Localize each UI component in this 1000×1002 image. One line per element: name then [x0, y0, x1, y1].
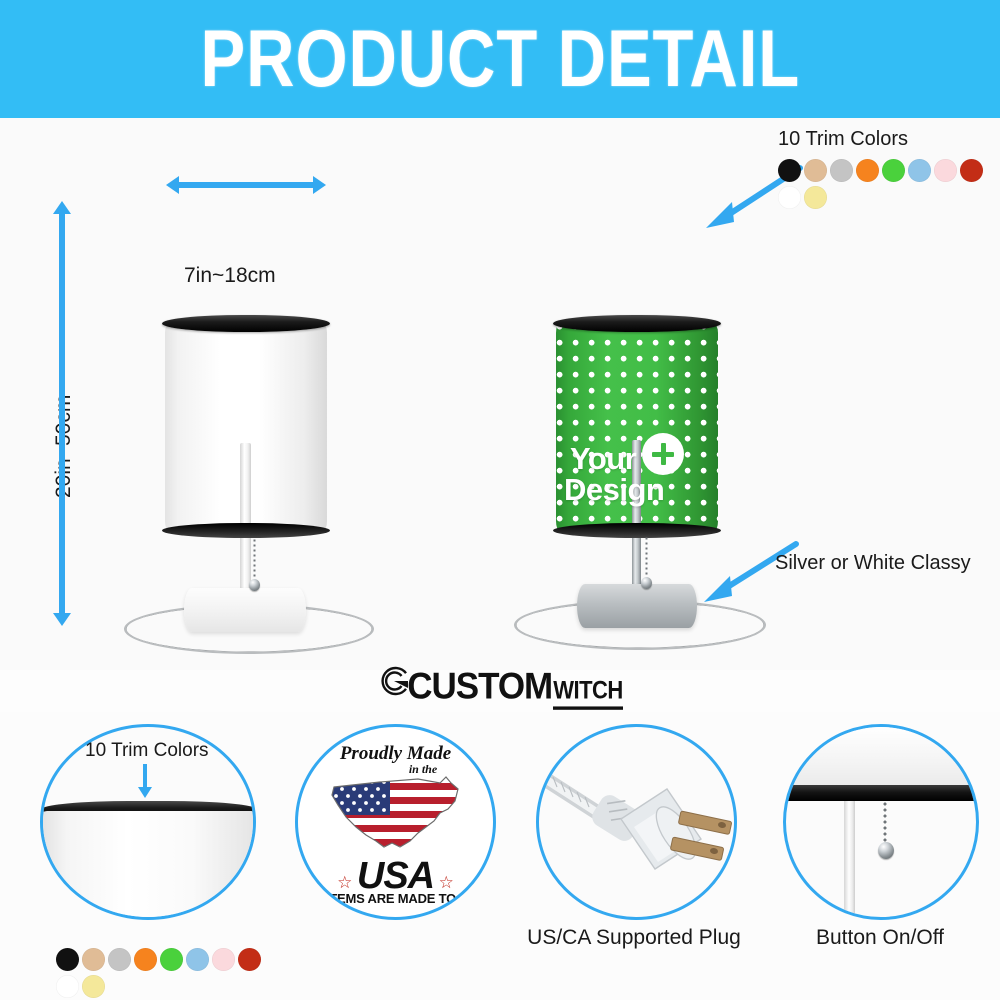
- trim-swatch-pink[interactable]: [934, 159, 957, 182]
- trim-swatch-green[interactable]: [882, 159, 905, 182]
- width-dimension-label: 7in~18cm: [184, 264, 276, 288]
- lamp-base-silver: [577, 584, 697, 628]
- design-placeholder-text: Your Design: [556, 444, 718, 505]
- trim-swatch-tan[interactable]: [804, 159, 827, 182]
- stem-closeup-switch: [844, 801, 855, 917]
- product-detail-infographic: PRODUCT DETAIL 7in~18cm 20in~50cm: [0, 0, 1000, 1000]
- brand-c-mark-icon: [377, 664, 411, 698]
- trim-swatch-yellow[interactable]: [82, 975, 105, 998]
- trim-swatch-green[interactable]: [160, 948, 183, 971]
- brand-name-sub: WITCH: [553, 676, 623, 710]
- feature-circle-switch: [783, 724, 979, 920]
- feature-trim-down-arrow: [143, 764, 147, 788]
- base-finish-label: Silver or White Classy: [775, 552, 971, 575]
- trim-swatch-black[interactable]: [56, 948, 79, 971]
- feature-circle-plug: [536, 724, 737, 920]
- trim-swatch-orange[interactable]: [134, 948, 157, 971]
- lamp-base-white: [184, 588, 306, 632]
- pull-chain-closeup[interactable]: [883, 801, 887, 847]
- brand-logo: CUSTOM WITCH: [0, 662, 1000, 710]
- trim-ring-top-white: [162, 315, 330, 332]
- header-banner: PRODUCT DETAIL: [0, 0, 1000, 118]
- height-dimension-arrow: [59, 213, 65, 614]
- power-plug-icon: [539, 727, 734, 917]
- trim-swatch-red[interactable]: [238, 948, 261, 971]
- trim-swatch-tan[interactable]: [82, 948, 105, 971]
- trim-colors-swatch-grid-top[interactable]: [778, 159, 1000, 213]
- trim-swatch-gray[interactable]: [108, 948, 131, 971]
- design-line-2: Design: [556, 475, 718, 505]
- trim-ring-top-green: [553, 315, 721, 332]
- pull-chain-ball-white[interactable]: [249, 579, 260, 591]
- trim-colors-swatch-grid-bottom[interactable]: [56, 948, 286, 1002]
- design-line-1: Your: [556, 444, 718, 474]
- shade-closeup-switch: [783, 727, 979, 789]
- trim-colors-swatch-grid-bottom-wrap: [56, 940, 286, 1002]
- trim-ring-bottom-green: [553, 523, 721, 538]
- feature-caption-switch: Button On/Off: [760, 926, 1000, 950]
- trim-swatch-black[interactable]: [778, 159, 801, 182]
- trim-swatch-orange[interactable]: [856, 159, 879, 182]
- usa-subtitle: ALL ITEMS ARE MADE TO ORDER!: [298, 891, 496, 906]
- trim-swatch-red[interactable]: [960, 159, 983, 182]
- trim-ring-closeup-switch: [783, 785, 979, 801]
- trim-swatch-gray[interactable]: [830, 159, 853, 182]
- feature-trim-inner-title: 10 Trim Colors: [85, 740, 209, 762]
- trim-colors-panel-top: 10 Trim Colors: [778, 128, 1000, 213]
- pull-chain-white[interactable]: [253, 538, 256, 582]
- trim-swatch-light-blue[interactable]: [908, 159, 931, 182]
- trim-ring-bottom-white: [162, 523, 330, 538]
- page-title: PRODUCT DETAIL: [200, 13, 800, 105]
- lamp-shade-green: Your Design: [556, 323, 718, 531]
- pull-chain-green[interactable]: [645, 536, 648, 580]
- trim-swatch-white[interactable]: [778, 186, 801, 209]
- add-design-plus-icon[interactable]: [642, 433, 684, 475]
- trim-swatch-light-blue[interactable]: [186, 948, 209, 971]
- shade-closeup-white: [41, 811, 256, 920]
- pull-chain-ball-green[interactable]: [641, 577, 652, 589]
- trim-swatch-white[interactable]: [56, 975, 79, 998]
- pull-chain-ball-closeup[interactable]: [878, 842, 894, 859]
- usa-map-flag-icon: [322, 769, 470, 861]
- feature-circle-usa: Proudly Made in the: [295, 724, 496, 920]
- trim-swatch-pink[interactable]: [212, 948, 235, 971]
- brand-name-main: CUSTOM: [407, 666, 552, 708]
- trim-colors-title-top: 10 Trim Colors: [778, 128, 1000, 151]
- trim-swatch-yellow[interactable]: [804, 186, 827, 209]
- feature-caption-plug: US/CA Supported Plug: [500, 926, 768, 950]
- width-dimension-arrow: [178, 182, 314, 188]
